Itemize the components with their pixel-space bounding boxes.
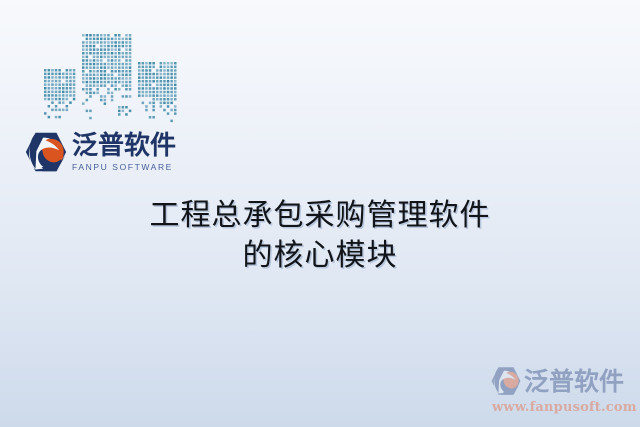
watermark-name-cn: 泛普软件 (524, 369, 624, 394)
watermark-lockup: 泛普软件 (484, 363, 634, 399)
title-line-2: 的核心模块 (0, 236, 640, 276)
watermark-url: www.fanpusoft.com (484, 400, 634, 415)
brand-block: 泛普软件 FANPU SOFTWARE (24, 22, 184, 187)
watermark: 泛普软件 www.fanpusoft.com (484, 363, 634, 421)
brand-name-cn: 泛普软件 (72, 133, 176, 160)
title-line-1: 工程总承包采购管理软件 (0, 196, 640, 236)
slide-title: 工程总承包采购管理软件 的核心模块 (0, 196, 640, 275)
brand-name-en: FANPU SOFTWARE (72, 163, 176, 172)
fanpu-wordmark: 泛普软件 FANPU SOFTWARE (72, 133, 176, 172)
fanpu-hexagon-logo-icon (24, 131, 68, 173)
fanpu-logo-lockup: 泛普软件 FANPU SOFTWARE (24, 126, 184, 178)
fanpu-hexagon-logo-icon (490, 366, 522, 396)
pixelated-city-skyline-icon (40, 22, 180, 132)
slide-canvas: 泛普软件 FANPU SOFTWARE 工程总承包采购管理软件 的核心模块 泛普… (0, 0, 640, 427)
